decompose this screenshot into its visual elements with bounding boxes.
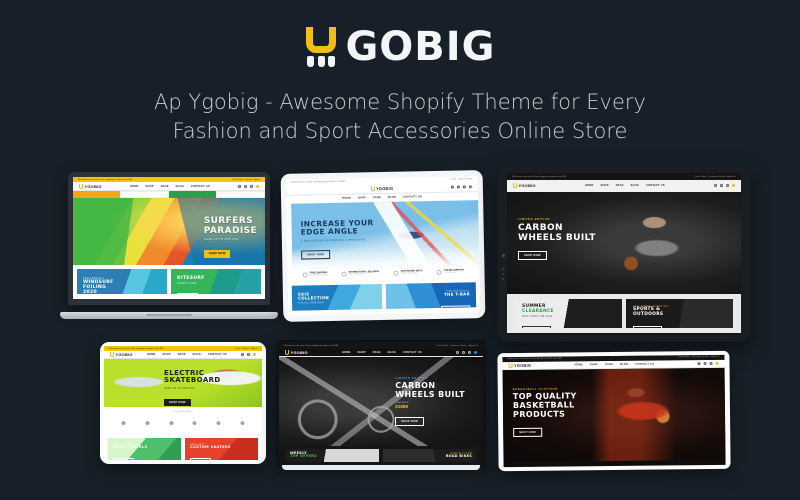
nav-link-blog[interactable]: BLOG (631, 184, 639, 187)
hero-eyebrow: LIMITED EDITION (518, 218, 596, 221)
hero-title-line-2: PARADISE (204, 226, 257, 236)
money-back-icon (393, 271, 398, 276)
nav-logo-text: YGOBIG (519, 183, 536, 188)
nav-link-blog[interactable]: BLOG (388, 195, 396, 198)
card-outdoors-eyebrow: STAY STRONG EVERY DAY (633, 306, 669, 308)
feature-sub: 24 hours a day (444, 272, 464, 274)
user-icon[interactable] (247, 353, 250, 356)
hero-cta-button[interactable]: SHOP NOW (513, 428, 542, 438)
user-icon[interactable] (244, 185, 247, 188)
promo-cards: NEW ARRIVALS WINDSURF FOILING 2020 SHOP … (73, 265, 265, 298)
nav-link-shop[interactable]: SHOP (146, 185, 154, 188)
shop-screen-ski: Welcome to our store! Free shipping on o… (286, 176, 481, 316)
topbar-promo: Welcome to our store! Free shipping on o… (109, 348, 163, 350)
topbar-links[interactable]: Track Order Customer Service About Us (695, 176, 737, 178)
card-skis-title-2: COLLECTION (298, 296, 329, 301)
cart-icon[interactable] (715, 362, 718, 365)
card-weekly[interactable]: WEEKLY TOP OFFERS (286, 449, 379, 463)
search-icon[interactable] (238, 185, 241, 188)
nav-logo[interactable]: YGOBIG (285, 350, 308, 355)
nav-link-contact[interactable]: CONTACT US (403, 351, 422, 354)
hero-title-line-2: WHEELS BUILT (518, 233, 596, 243)
nav-link-home[interactable]: HOME (147, 353, 156, 356)
hero-cta-button[interactable]: SHOP NOW (204, 250, 231, 257)
tagline-line-1: Ap Ygobig - Awesome Shopify Theme for Ev… (60, 88, 740, 117)
nav-link-contact[interactable]: CONTACT US (635, 362, 654, 365)
hero-cta-button[interactable]: SHOP NOW (164, 399, 191, 406)
nav-link-contact[interactable]: CONTACT US (208, 353, 227, 356)
brand-logo[interactable] (190, 419, 199, 428)
shipping-icon (303, 272, 308, 277)
feature-item: 100% MONEY BACK 30 days return policy (393, 270, 422, 276)
nav-link-shop[interactable]: SHOP (601, 184, 609, 187)
brand-logo[interactable] (167, 419, 176, 428)
nav-link-blog[interactable]: BLOG (193, 353, 201, 356)
user-icon[interactable] (457, 185, 460, 188)
card-outdoors-button[interactable]: SHOP NOW (633, 326, 662, 328)
device-tablet-bball: Welcome to our store! Free shipping on o… (497, 351, 730, 471)
nav-logo-text: YGOBIG (85, 184, 102, 189)
topbar-links[interactable]: Track Order Customer Service About Us (437, 345, 479, 347)
topbar: Welcome to our store! Free shipping on o… (507, 173, 741, 180)
card-custom-title: CUSTOM SKATERS (190, 446, 231, 450)
nav-link-blog[interactable]: BLOG (620, 363, 628, 366)
hero-subtitle: A NEW DEGREE OF CONTROL & PRECISION (301, 238, 374, 242)
ygobig-u-mark-icon (304, 27, 338, 67)
tagline-line-2: Fashion and Sport Accessories Online Sto… (60, 117, 740, 146)
card-clearance-title-2: CLEARANCE (522, 310, 554, 315)
laptop-lid: Welcome to our store! Free shipping on o… (68, 172, 270, 305)
card-parts-button[interactable]: SHOP (113, 458, 134, 460)
nav-icons[interactable] (241, 353, 256, 356)
logo-wordmark: GOBIG (345, 27, 495, 67)
hero-bike: LIMITED EDITION CARBON WHEELS BUILT STAR… (279, 357, 483, 446)
shop-screen-bike: Welcome to our store! Free shipping on o… (279, 343, 483, 466)
card-parts-title: PARTS WHEELS (113, 446, 147, 450)
hero-title-line-1: CARBON (518, 223, 596, 233)
nav-link-shop[interactable]: SHOP (358, 351, 366, 354)
globe-icon (342, 272, 347, 277)
nav-icons[interactable] (697, 362, 718, 365)
card-skis-eyebrow: THE ALL NEW 2020 (298, 302, 329, 305)
shop-screen-bball: Welcome to our store! Free shipping on o… (502, 355, 725, 467)
device-tablet-bike: Welcome to our store! Free shipping on o… (276, 340, 486, 466)
feature-sub: Ship to 200 countries (349, 273, 380, 276)
nav-icons[interactable] (714, 184, 735, 187)
feature-sub: 30 days return policy (401, 273, 423, 275)
nav-icons[interactable] (456, 351, 477, 354)
nav-link-shop[interactable]: SHOP (163, 353, 171, 356)
nav-link-home[interactable]: HOME (342, 196, 351, 199)
user-icon[interactable] (703, 362, 706, 365)
page-tagline: Ap Ygobig - Awesome Shopify Theme for Ev… (60, 88, 740, 146)
navbar: YGOBIG HOME SHOP PAGE BLOG CONTACT US (507, 180, 741, 191)
nav-link-home[interactable]: HOME (585, 184, 594, 187)
nav-link-home[interactable]: HOME (342, 351, 351, 354)
nav-link-page[interactable]: PAGE (605, 363, 613, 366)
cart-icon[interactable] (253, 353, 256, 356)
heart-icon[interactable] (709, 362, 712, 365)
topbar-promo: Welcome to our store! Free shipping on o… (78, 179, 132, 181)
card-custom-button[interactable]: SHOP (190, 458, 211, 460)
nav-logo-text: YGOBIG (376, 186, 393, 191)
hero-bball: BASKETBALL CLOTHING TOP QUALITY BASKETBA… (503, 367, 726, 462)
side-buttons (502, 268, 504, 283)
hero-cta-button[interactable]: SHOP NOW (395, 417, 424, 426)
nav-logo[interactable]: YGOBIG (79, 184, 102, 189)
heart-icon[interactable] (250, 185, 253, 188)
nav-logo[interactable]: YGOBIG (513, 183, 536, 188)
nav-link-blog[interactable]: BLOG (388, 351, 396, 354)
search-icon[interactable] (241, 353, 244, 356)
support-icon (437, 270, 442, 275)
search-icon[interactable] (697, 362, 700, 365)
cart-icon[interactable] (469, 185, 472, 188)
card-road[interactable]: SPECIALLY FOR ROAD BIKES (383, 449, 476, 463)
feature-sub: On all orders over $99 (310, 274, 328, 276)
card-parts[interactable]: THE ALL NEW 2020 PARTS WHEELS SHOP (108, 438, 181, 460)
card-road-eyebrow: SPECIALLY FOR (446, 453, 472, 455)
card-kitesurf-title: KITESURF (177, 276, 205, 281)
promo-banner: GOBIG Ap Ygobig - Awesome Shopify Theme … (0, 0, 800, 500)
device-laptop-surf: Welcome to our store! Free shipping on o… (60, 172, 278, 329)
card-clearance-sub: DON'T MISS THE SALE (522, 316, 554, 318)
nav-link-page[interactable]: PAGE (616, 184, 624, 187)
shop-screen-surf: Welcome to our store! Free shipping on o… (73, 177, 265, 299)
shop-screen-skateboard: Welcome to our store! Free shipping on o… (104, 346, 262, 460)
promo-cards: WEEKLY TOP OFFERS SPECIALLY FOR ROAD BIK… (279, 446, 483, 466)
nav-link-shop[interactable]: SHOP (590, 363, 598, 366)
hero-title-line-1: SURFERS (204, 216, 257, 226)
nav-links[interactable]: HOME SHOP PAGE BLOG CONTACT US (147, 353, 227, 356)
hero-eyebrow: LIMITED EDITION (395, 377, 465, 380)
cart-icon[interactable] (732, 184, 735, 187)
hero-basketball: LIMITED EDITION CARBON WHEELS BUILT SHOP… (507, 192, 741, 294)
nav-icons[interactable] (451, 185, 472, 188)
nav-logo-icon (285, 350, 289, 355)
price-value: $1889 (395, 404, 465, 409)
device-tablet-basketball: Welcome to our store! Free shipping on o… (498, 166, 750, 342)
promo-cards: SKIS COLLECTION THE ALL NEW 2020 SHOP NO… (288, 278, 481, 314)
topbar-links[interactable]: Track Order Customer Service About Us (678, 356, 720, 358)
card-outdoors[interactable]: STAY STRONG EVERY DAY SPORTS & OUTDOORS … (626, 299, 733, 328)
nav-icons[interactable] (238, 185, 259, 188)
tablet-frame-dark: Welcome to our store! Free shipping on o… (498, 166, 750, 342)
brand-logo[interactable] (143, 419, 152, 428)
brand-logo[interactable] (238, 419, 247, 428)
card-custom[interactable]: SALE 2020 CUSTOM SKATERS SHOP (185, 438, 258, 460)
topbar-promo: Welcome to our store! Free shipping on o… (507, 358, 561, 361)
topbar-links[interactable]: Track Service About (235, 348, 257, 350)
nav-logo-icon (79, 184, 83, 189)
topbar-links[interactable]: Track Order Service About (232, 179, 260, 181)
feature-item: ONLINE SUPPORT 24 hours a day (437, 269, 465, 275)
tablet-frame-white: Welcome to our store! Free shipping on o… (100, 342, 266, 464)
brand-logo[interactable] (214, 419, 223, 428)
search-icon[interactable] (714, 184, 717, 187)
tablet-frame-white: Welcome to our store! Free shipping on o… (497, 351, 730, 471)
card-road-title: ROAD BIKES (446, 455, 472, 459)
device-tablet-ski: Welcome to our store! Free shipping on o… (281, 170, 486, 322)
tablet-frame-dark: Welcome to our store! Free shipping on o… (276, 340, 486, 466)
nav-logo[interactable]: YGOBIG (508, 363, 531, 368)
nav-logo-icon (370, 186, 374, 191)
nav-logo[interactable]: YGOBIG (110, 352, 133, 357)
tablet-frame-white: Welcome to our store! Free shipping on o… (281, 170, 486, 322)
nav-link-contact[interactable]: CONTACT US (646, 184, 665, 187)
promo-cards: SUMMER CLEARANCE DON'T MISS THE SALE SHO… (507, 294, 741, 333)
navbar: YGOBIG HOME SHOP PAGE BLOG CONTACT US (279, 349, 483, 358)
card-tbar-button[interactable]: SHOP NOW (441, 305, 470, 309)
brand-lockup: GOBIG (0, 27, 800, 67)
card-windsurf-title-3: 2020 (83, 290, 114, 294)
topbar-promo: Welcome to our store! Free shipping on o… (284, 345, 338, 347)
nav-link-page[interactable]: PAGE (373, 196, 381, 199)
card-clearance[interactable]: SUMMER CLEARANCE DON'T MISS THE SALE SHO… (515, 299, 622, 328)
card-weekly-title-2: TOP OFFERS (290, 455, 317, 459)
card-kitesurf[interactable]: KITESURF SPORTS CAMP SHOP (171, 269, 261, 294)
nav-link-home[interactable]: HOME (574, 363, 583, 366)
hero-title-line-2: WHEELS BUILT (395, 391, 465, 400)
hero-subtitle: SAVE UP TO 50% OFF (164, 388, 221, 390)
card-tbar[interactable]: FOR THE RIDERS THE T-BAR SHOP NOW (386, 282, 476, 308)
nav-links[interactable]: HOME SHOP PAGE BLOG CONTACT US (342, 351, 422, 354)
topbar-promo: Welcome to our store! Free shipping on o… (512, 176, 566, 178)
card-skis[interactable]: SKIS COLLECTION THE ALL NEW 2020 SHOP NO… (292, 284, 382, 310)
hero-ski: INCREASE YOUR EDGE ANGLE A NEW DEGREE OF… (291, 200, 480, 269)
nav-links[interactable]: HOME SHOP PAGE BLOG CONTACT US (574, 362, 654, 366)
feature-item: INTERNATIONAL DELIVERY Ship to 200 count… (342, 271, 380, 277)
hero-title-line-2: SKATEBOARD (164, 377, 221, 385)
hero-title-line-3: PRODUCTS (513, 410, 577, 420)
nav-link-shop[interactable]: SHOP (358, 196, 366, 199)
nav-logo-text: YGOBIG (116, 352, 133, 357)
hero-cta-button[interactable]: SHOP NOW (301, 250, 330, 260)
navbar: YGOBIG HOME SHOP PAGE BLOG CONTACT US (104, 351, 262, 359)
hero-cta-button[interactable]: SHOP NOW (518, 251, 547, 260)
card-tbar-title: THE T-BAR (441, 293, 470, 298)
brand-logo[interactable] (119, 419, 128, 428)
topbar-links[interactable]: Track Service About (451, 178, 473, 180)
card-custom-eyebrow: SALE 2020 (190, 444, 231, 446)
nav-logo-text: YGOBIG (514, 363, 531, 368)
card-windsurf[interactable]: NEW ARRIVALS WINDSURF FOILING 2020 SHOP (77, 269, 167, 294)
card-parts-eyebrow: THE ALL NEW 2020 (113, 444, 147, 446)
user-icon[interactable] (462, 351, 465, 354)
user-icon[interactable] (720, 184, 723, 187)
card-kitesurf-eyebrow: SPORTS CAMP (177, 283, 205, 285)
hero-skateboard: ELECTRIC SKATEBOARD SAVE UP TO 50% OFF S… (104, 359, 262, 407)
nav-logo-icon (513, 183, 517, 188)
nav-logo-icon (508, 363, 512, 368)
nav-link-blog[interactable]: BLOG (176, 185, 184, 188)
tablet-stand (282, 465, 480, 470)
shop-screen-basketball: Welcome to our store! Free shipping on o… (507, 173, 741, 335)
nav-logo-text: YGOBIG (291, 350, 308, 355)
card-windsurf-eyebrow: NEW ARRIVALS (83, 278, 114, 280)
nav-link-page[interactable]: PAGE (178, 353, 186, 356)
promo-cards: THE ALL NEW 2020 PARTS WHEELS SHOP SALE … (104, 434, 262, 460)
laptop-notch (146, 314, 192, 317)
nav-link-page[interactable]: PAGE (161, 185, 169, 188)
nav-link-home[interactable]: HOME (130, 185, 139, 188)
nav-links[interactable]: HOME SHOP PAGE BLOG CONTACT US (585, 184, 665, 187)
hero-surf: SURFERS PARADISE SAVE UP TO 50% OFF SHOP… (73, 198, 265, 265)
brand-logos-row (104, 413, 262, 434)
nav-link-contact[interactable]: CONTACT US (403, 195, 422, 198)
cart-icon[interactable] (256, 185, 259, 188)
heart-icon[interactable] (726, 184, 729, 187)
hero-title-line-2: EDGE ANGLE (301, 227, 374, 237)
navbar: YGOBIG HOME SHOP PAGE BLOG CONTACT US (73, 182, 265, 191)
heart-icon[interactable] (468, 351, 471, 354)
nav-logo[interactable]: YGOBIG (370, 186, 393, 191)
cart-icon[interactable] (474, 351, 477, 354)
nav-link-page[interactable]: PAGE (373, 351, 381, 354)
nav-logo-icon (110, 352, 114, 357)
camera-icon (502, 254, 505, 257)
feature-item: FREE SHIPPING On all orders over $99 (303, 272, 328, 277)
card-outdoors-title-2: OUTDOORS (633, 313, 669, 318)
nav-link-contact[interactable]: CONTACT US (191, 185, 210, 188)
hero-subtitle: SAVE UP TO 50% OFF (204, 238, 257, 241)
search-icon[interactable] (456, 351, 459, 354)
nav-links[interactable]: HOME SHOP PAGE BLOG CONTACT US (130, 185, 210, 188)
card-clearance-button[interactable]: SHOP NOW (522, 326, 551, 328)
search-icon[interactable] (451, 185, 454, 188)
topbar-promo: Welcome to our store! Free shipping on o… (291, 181, 345, 184)
heart-icon[interactable] (463, 185, 466, 188)
card-kitesurf-button[interactable]: SHOP (177, 293, 198, 295)
device-tablet-skateboard: Welcome to our store! Free shipping on o… (100, 342, 266, 464)
